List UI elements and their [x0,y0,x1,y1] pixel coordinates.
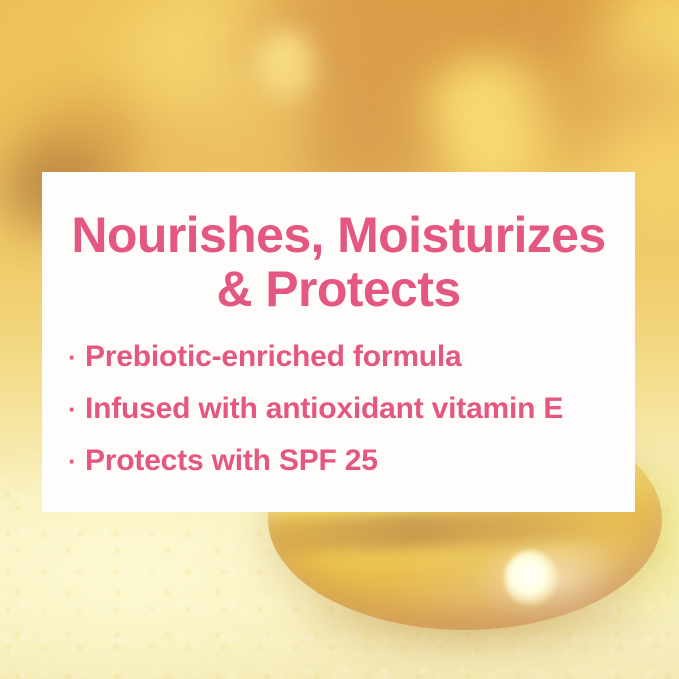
benefit-label: Protects with SPF 25 [85,446,378,476]
headline: Nourishes, Moisturizes & Protects [42,172,635,316]
product-benefits-graphic: Nourishes, Moisturizes & Protects · Preb… [0,0,679,679]
benefit-label: Prebiotic-enriched formula [85,342,462,372]
bullet-icon: · [68,344,85,370]
benefit-label: Infused with antioxidant vitamin E [85,394,563,424]
bullet-icon: · [68,448,85,474]
headline-line-1: Nourishes, Moisturizes [68,208,609,262]
headline-line-2: & Protects [68,262,609,316]
benefits-list: · Prebiotic-enriched formula · Infused w… [42,316,635,476]
benefits-card: Nourishes, Moisturizes & Protects · Preb… [42,172,635,512]
benefit-item: · Prebiotic-enriched formula [68,342,635,372]
benefit-item: · Protects with SPF 25 [68,446,635,476]
benefit-item: · Infused with antioxidant vitamin E [68,394,635,424]
bokeh-blob [255,30,315,105]
bullet-icon: · [68,396,85,422]
